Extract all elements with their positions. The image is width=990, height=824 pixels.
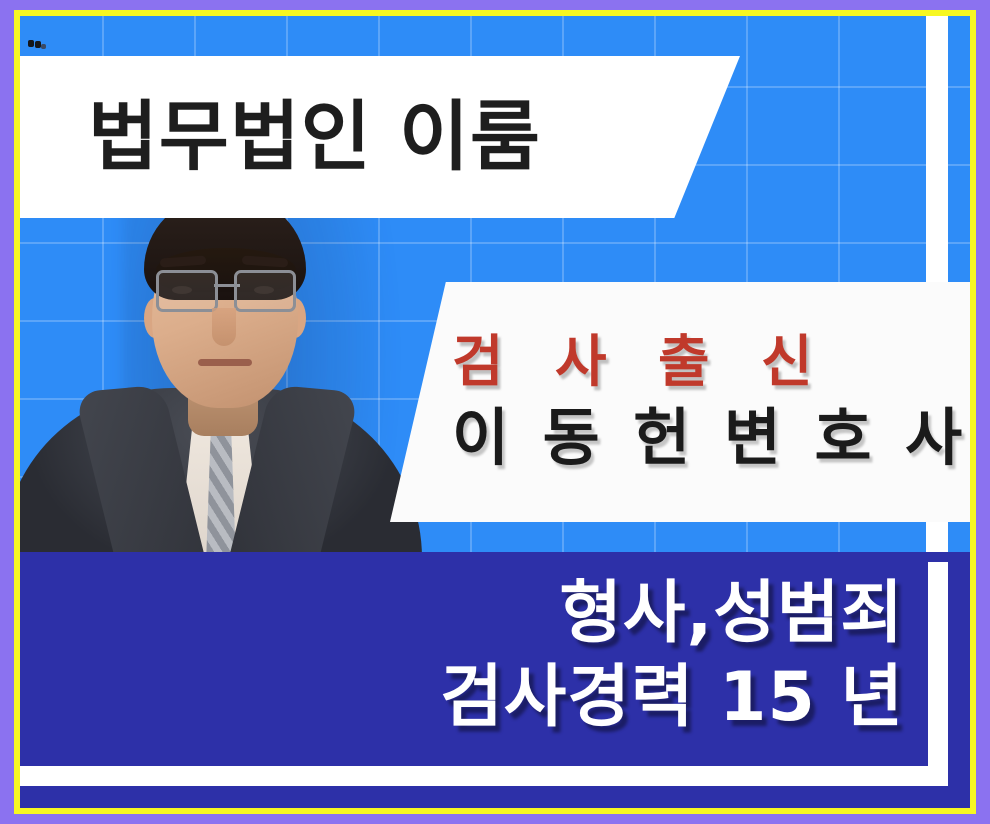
specialty-text-group: 형사,성범죄 검사경력 15 년 [440, 574, 904, 738]
experience-years-label: 검사경력 15 년 [440, 658, 904, 738]
firm-name-banner: 법무법인 이룸 [20, 56, 740, 218]
image-artifact-speck [28, 40, 46, 49]
prosecutor-background-label: 검 사 출 신 [452, 331, 970, 395]
firm-name-title: 법무법인 이룸 [88, 99, 541, 175]
law-firm-advertisement-banner: 법무법인 이룸 검 사 출 신 이 동 헌 변 호 사 형사,성범죄 검사경력 … [0, 0, 990, 824]
specialty-navy-block: 형사,성범죄 검사경력 15 년 [20, 552, 970, 808]
lawyer-name-banner: 검 사 출 신 이 동 헌 변 호 사 [390, 282, 970, 522]
mouth [198, 359, 252, 366]
nose [212, 308, 236, 346]
eyeglasses [154, 270, 298, 310]
lawyer-name-label: 이 동 헌 변 호 사 [452, 402, 970, 473]
blue-grid-stage: 법무법인 이룸 검 사 출 신 이 동 헌 변 호 사 형사,성범죄 검사경력 … [20, 16, 970, 808]
lens-right [234, 270, 296, 312]
lens-left [156, 270, 218, 312]
practice-areas-label: 형사,성범죄 [440, 574, 904, 654]
